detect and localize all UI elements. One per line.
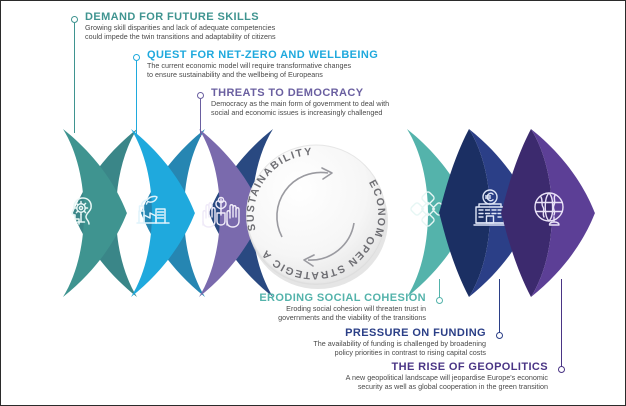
stem-cohesion (439, 279, 440, 299)
callout-quest-for-net-zero-and-wellbeing: QUEST FOR NET-ZERO AND WELLBEING The cur… (147, 49, 378, 80)
infographic-canvas: SUSTAINABILITY ECONOMY OPEN STRATEGIC AU… (0, 0, 626, 406)
node-geopolitics (558, 366, 565, 373)
callout-eroding-social-cohesion: ERODING SOCIAL COHESION Eroding social c… (131, 292, 426, 323)
callout-body: A new geopolitical landscape will jeopar… (253, 373, 548, 392)
node-net-zero (133, 54, 140, 61)
stem-skills (74, 23, 75, 133)
hub-label-economy: ECONOMY (242, 141, 387, 240)
svg-text:SUSTAINABILITY: SUSTAINABILITY (245, 146, 314, 232)
callout-threats-to-democracy: THREATS TO DEMOCRACY Democracy as the ma… (211, 87, 389, 118)
node-skills (71, 16, 78, 23)
stem-geopolitics (561, 279, 562, 368)
callout-pressure-on-funding: PRESSURE ON FUNDING The availability of … (191, 327, 486, 358)
callout-body: Eroding social cohesion will threaten tr… (131, 304, 426, 323)
hub-label-sustainability: SUSTAINABILITY (245, 146, 314, 232)
node-funding (496, 332, 503, 339)
hub-labels: SUSTAINABILITY ECONOMY OPEN STRATEGIC AU… (242, 141, 390, 289)
central-hub: SUSTAINABILITY ECONOMY OPEN STRATEGIC AU… (242, 141, 390, 289)
stem-net-zero (136, 61, 137, 136)
callout-title: QUEST FOR NET-ZERO AND WELLBEING (147, 49, 378, 61)
callout-demand-for-future-skills: DEMAND FOR FUTURE SKILLS Growing skill d… (85, 11, 276, 42)
callout-body: The availability of funding is challenge… (191, 339, 486, 358)
callout-title: PRESSURE ON FUNDING (191, 327, 486, 339)
callout-title: THE RISE OF GEOPOLITICS (253, 361, 548, 373)
petal-geopolitics (513, 129, 609, 297)
callout-body: Growing skill disparities and lack of ad… (85, 23, 276, 42)
callout-body: Democracy as the main form of government… (211, 99, 389, 118)
node-democracy (197, 92, 204, 99)
svg-text:ECONOMY: ECONOMY (242, 141, 387, 240)
callout-title: DEMAND FOR FUTURE SKILLS (85, 11, 276, 23)
callout-body: The current economic model will require … (147, 61, 378, 80)
callout-the-rise-of-geopolitics: THE RISE OF GEOPOLITICS A new geopolitic… (253, 361, 548, 392)
callout-title: ERODING SOCIAL COHESION (131, 292, 426, 304)
stem-funding (499, 279, 500, 334)
callout-title: THREATS TO DEMOCRACY (211, 87, 389, 99)
node-cohesion (436, 297, 443, 304)
stem-democracy (200, 99, 201, 137)
